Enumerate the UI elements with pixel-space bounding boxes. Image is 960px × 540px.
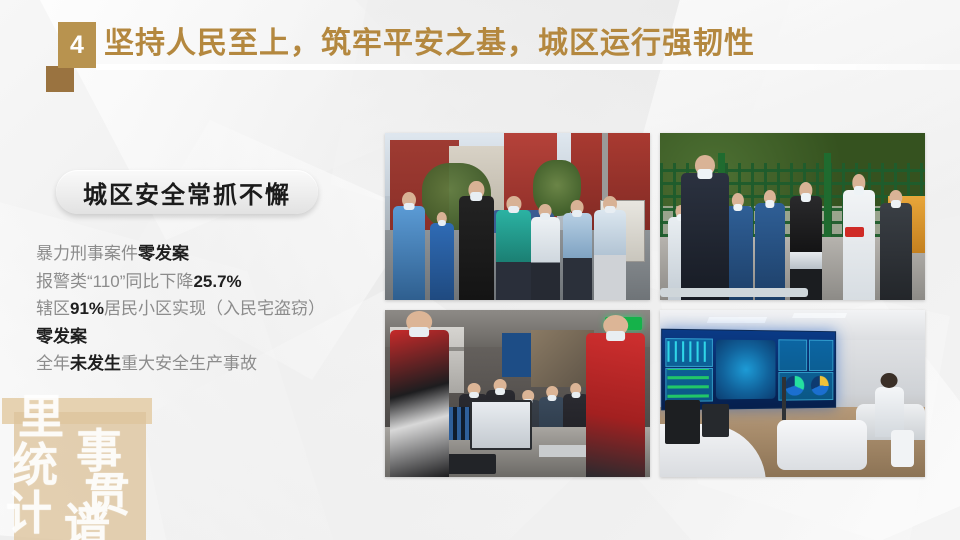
- body-line-bold: 91%: [70, 299, 104, 318]
- page-title: 坚持人民至上，筑牢平安之基，城区运行强韧性: [104, 18, 755, 62]
- body-line: 零发案: [36, 323, 376, 351]
- header-underline: [96, 64, 960, 70]
- body-line-plain-after: 居民小区实现（入民宅盗窃）: [104, 299, 325, 318]
- body-line-bold: 未发生: [70, 354, 121, 373]
- photo-shop-interior-inspection: [385, 310, 650, 477]
- body-line-bold: 零发案: [36, 327, 87, 346]
- slide-number-text: 4: [70, 33, 84, 58]
- body-line-plain: 暴力刑事案件: [36, 244, 138, 263]
- photo-checkpoint-green-fence: [660, 133, 925, 300]
- section-ribbon: 城区安全常抓不懈: [56, 170, 318, 214]
- body-line: 暴力刑事案件零发案: [36, 240, 376, 268]
- body-line-plain: 辖区: [36, 299, 70, 318]
- slide: 里 事 统 贯 计 谱 4 坚持人民至上，筑牢平安之基，城区运行强韧性 城区安全…: [0, 0, 960, 540]
- body-line-bold: 零发案: [138, 244, 189, 263]
- slide-number-badge: 4: [58, 22, 96, 68]
- header-accent-square: [46, 66, 74, 92]
- section-ribbon-label: 城区安全常抓不懈: [83, 175, 291, 210]
- body-line-plain: 全年: [36, 354, 70, 373]
- body-line-plain: 报警类“110”同比下降: [36, 272, 193, 291]
- body-copy: 暴力刑事案件零发案 报警类“110”同比下降25.7% 辖区91%居民小区实现（…: [36, 240, 376, 378]
- body-line: 报警类“110”同比下降25.7%: [36, 268, 376, 296]
- body-line: 全年未发生重大安全生产事故: [36, 350, 376, 378]
- photo-grid: [385, 133, 925, 483]
- photo-command-center-video-wall: [660, 310, 925, 477]
- body-line-bold: 25.7%: [193, 272, 241, 291]
- body-line-plain-after: 重大安全生产事故: [121, 354, 257, 373]
- photo-street-inspection-red-building: [385, 133, 650, 300]
- body-line: 辖区91%居民小区实现（入民宅盗窃）: [36, 295, 376, 323]
